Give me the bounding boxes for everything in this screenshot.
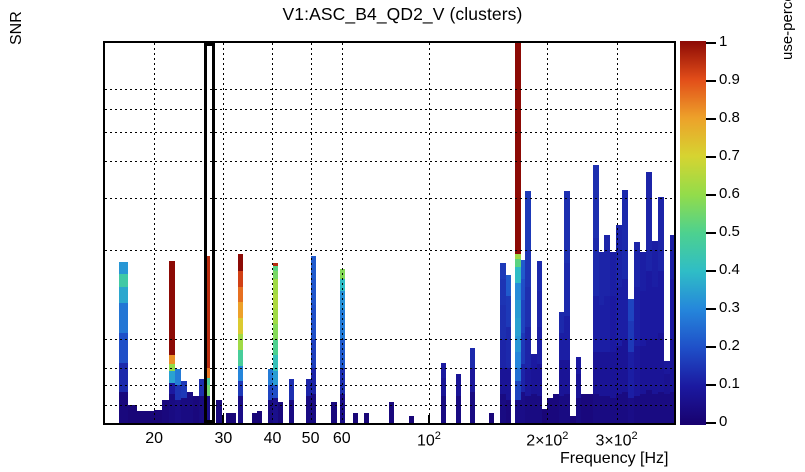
- palette-tick-label: 0.4: [719, 261, 740, 278]
- palette-tick-label: 0.2: [719, 337, 740, 354]
- x-axis-tick-label: 3×102: [595, 430, 637, 450]
- palette-tick-mark: [706, 156, 716, 158]
- palette-tick-mark: [706, 422, 716, 424]
- palette-tick-label: 0.8: [719, 109, 740, 126]
- palette-tick-mark: [706, 80, 716, 82]
- x-axis-tick-label: 20: [145, 430, 163, 448]
- palette-tick-label: 0.5: [719, 223, 740, 240]
- palette-tick-label: 0.6: [719, 185, 740, 202]
- y-axis-tick-labels: 10270605040302010876: [0, 0, 99, 472]
- color-palette-gradient: [680, 41, 706, 425]
- x-axis-tick-label: 40: [264, 430, 282, 448]
- palette-tick-label: 0: [719, 413, 727, 430]
- color-palette-bar: [680, 41, 706, 425]
- palette-tick-mark: [706, 346, 716, 348]
- palette-tick-mark: [706, 194, 716, 196]
- palette-tick-mark: [706, 42, 716, 44]
- palette-tick-mark: [706, 384, 716, 386]
- color-palette-title: use-percentage: [779, 0, 796, 60]
- veto-line-marker: [204, 43, 215, 423]
- x-axis-tick-label: 30: [214, 430, 232, 448]
- palette-tick-mark: [706, 232, 716, 234]
- x-axis-title: Frequency [Hz]: [560, 450, 668, 468]
- x-axis-tick-label: 102: [417, 430, 441, 450]
- x-axis-tick-label: 60: [333, 430, 351, 448]
- palette-tick-label: 0.9: [719, 71, 740, 88]
- palette-tick-label: 0.7: [719, 147, 740, 164]
- plot-frame: [103, 41, 676, 425]
- chart-title: V1:ASC_B4_QD2_V (clusters): [0, 4, 805, 25]
- x-axis-tick-label: 50: [302, 430, 320, 448]
- palette-tick-label: 1: [719, 33, 727, 50]
- palette-tick-mark: [706, 270, 716, 272]
- palette-tick-label: 0.3: [719, 299, 740, 316]
- palette-tick-mark: [706, 118, 716, 120]
- veto-line-overlay-layer: [105, 43, 674, 423]
- chart-root: V1:ASC_B4_QD2_V (clusters) SNR 102706050…: [0, 0, 805, 472]
- x-axis-tick-label: 2×102: [526, 430, 568, 450]
- palette-tick-mark: [706, 308, 716, 310]
- palette-tick-label: 0.1: [719, 375, 740, 392]
